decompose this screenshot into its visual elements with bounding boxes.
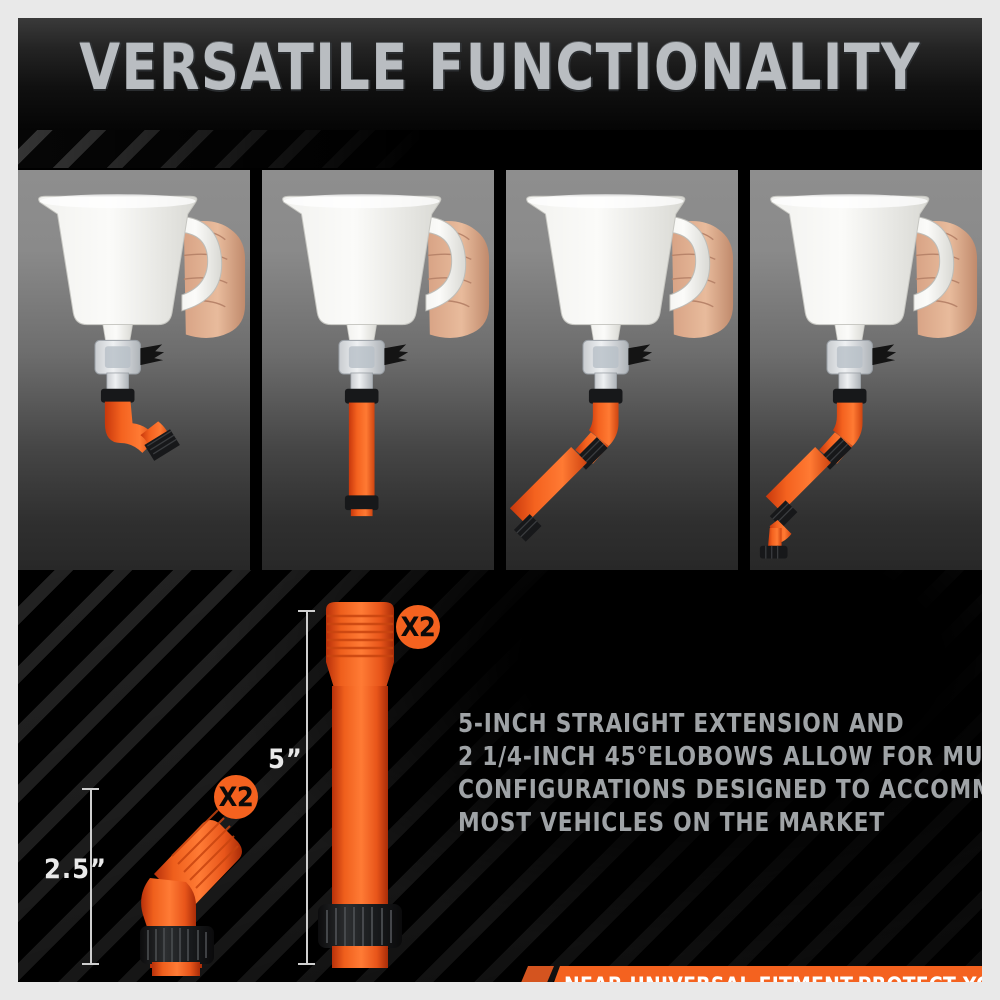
straight-extension-product-photo xyxy=(296,596,426,978)
funnel-straight-extension-illustration xyxy=(262,170,494,570)
configuration-panel-row xyxy=(18,170,982,570)
extension-barrel xyxy=(332,686,388,908)
header-stripe-band xyxy=(18,130,982,168)
feature-description-line-4: MOST VEHICLES ON THE MARKET xyxy=(458,807,971,840)
valve-lever xyxy=(384,344,408,365)
elbow-dimension-label: 2.5” xyxy=(44,854,107,885)
valve-assembly xyxy=(95,340,164,390)
feature-description-line-2: 2 1/4-INCH 45°ELOBOWS ALLOW FOR MULTIPLE xyxy=(458,741,971,774)
end-collar-nut xyxy=(514,514,542,542)
collar-nut xyxy=(101,389,135,403)
feature-description: 5-INCH STRAIGHT EXTENSION AND 2 1/4-INCH… xyxy=(458,708,971,840)
straight-extension-part xyxy=(510,447,587,524)
content-stage: VERSATILE FUNCTIONALITY xyxy=(18,18,982,982)
funnel-full-chain-illustration xyxy=(750,170,982,570)
elbow-collar-nut xyxy=(140,926,214,964)
collar-nut-bottom xyxy=(345,495,379,510)
elbow-part-lower xyxy=(768,520,792,550)
extension-dimension-label: 5” xyxy=(268,744,303,775)
elbow-part xyxy=(105,402,180,461)
panel-elbow-extension-elbow xyxy=(750,170,982,570)
page-title: VERSATILE FUNCTIONALITY xyxy=(52,32,949,104)
straight-extension-part xyxy=(349,403,375,498)
header-bar: VERSATILE FUNCTIONALITY xyxy=(18,18,982,130)
valve-lever xyxy=(628,344,652,365)
end-collar-nut xyxy=(760,546,788,559)
funnel-body xyxy=(283,196,441,324)
funnel-body xyxy=(771,196,929,324)
funnel-body xyxy=(39,196,197,324)
dimension-line-extension xyxy=(306,610,308,964)
valve-assembly xyxy=(827,340,896,390)
collar-nut-top xyxy=(833,389,867,404)
collar-nut-top xyxy=(345,389,379,404)
dimension-cap-elbow-top xyxy=(82,788,99,790)
collar-nut-top xyxy=(589,389,623,404)
dimension-cap-extension-top xyxy=(298,610,315,612)
panel-elbow-plus-extension xyxy=(506,170,738,570)
image-frame: VERSATILE FUNCTIONALITY xyxy=(0,0,1000,1000)
funnel-elbow-extension-illustration xyxy=(506,170,738,570)
bottom-banner: NEAR UNIVERSAL FITMENT,PROTECT YOUR VEHI… xyxy=(512,966,982,982)
dimension-cap-elbow-bottom xyxy=(82,963,99,965)
panel-elbow-only xyxy=(18,170,250,570)
feature-description-line-3: CONFIGURATIONS DESIGNED TO ACCOMMODATE xyxy=(458,774,971,807)
extension-quantity-badge: X2 xyxy=(396,605,440,649)
extension-collar-nut xyxy=(318,904,402,948)
straight-extension-part xyxy=(766,447,831,512)
panel-straight-extension xyxy=(262,170,494,570)
funnel-body xyxy=(527,196,685,324)
valve-assembly xyxy=(339,340,408,390)
valve-assembly xyxy=(583,340,652,390)
banner-text: NEAR UNIVERSAL FITMENT,PROTECT YOUR VEHI… xyxy=(564,966,971,982)
banner-chevron-accent xyxy=(512,966,554,982)
elbow-product-photo xyxy=(110,778,300,978)
funnel-elbow-only-illustration xyxy=(18,170,250,570)
dimension-cap-extension-bottom xyxy=(298,963,315,965)
extension-threaded-top xyxy=(326,602,394,662)
valve-lever xyxy=(872,344,896,365)
valve-lever xyxy=(140,344,164,365)
feature-description-line-1: 5-INCH STRAIGHT EXTENSION AND xyxy=(458,708,971,741)
extension-shoulder xyxy=(326,662,394,688)
elbow-quantity-badge: X2 xyxy=(214,775,258,819)
